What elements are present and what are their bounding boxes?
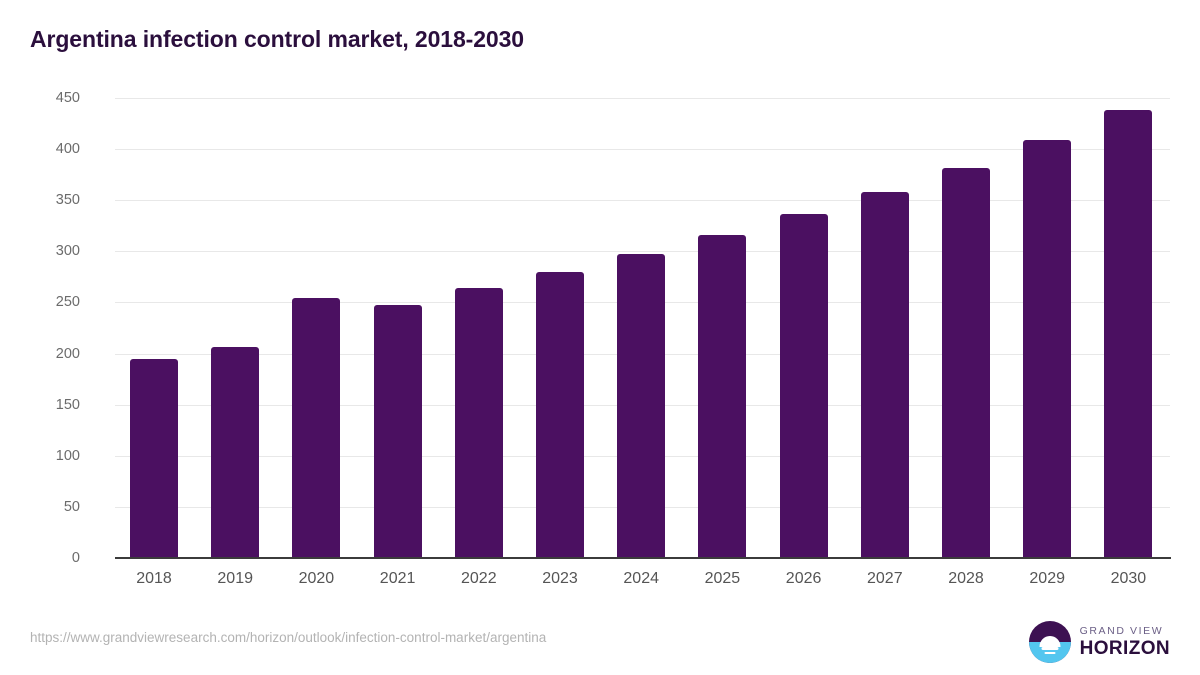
x-axis-tick-label: 2021 [353, 570, 443, 588]
x-axis-tick-label: 2029 [1002, 570, 1092, 588]
y-axis-tick-label: 0 [20, 550, 80, 566]
x-axis-tick-label: 2023 [515, 570, 605, 588]
y-axis-tick-label: 100 [20, 448, 80, 464]
y-axis-tick-label: 250 [20, 294, 80, 310]
logo-horizon-text: HORIZON [1080, 639, 1170, 658]
x-axis-tick-label: 2020 [271, 570, 361, 588]
logo-ray-lower [1044, 652, 1055, 655]
y-axis-tick-label: 400 [20, 141, 80, 157]
x-axis-line [115, 557, 1171, 559]
logo-text: GRAND VIEW HORIZON [1080, 626, 1170, 659]
x-axis-tick-label: 2028 [921, 570, 1011, 588]
bar-2021[interactable] [374, 305, 422, 559]
bar-2026[interactable] [780, 214, 828, 558]
y-axis-tick-label: 150 [20, 397, 80, 413]
gridline [115, 200, 1170, 201]
gridline [115, 251, 1170, 252]
x-axis-tick-label: 2026 [759, 570, 849, 588]
x-axis-tick-label: 2025 [677, 570, 767, 588]
logo-sun-shape [1039, 636, 1060, 647]
source-url[interactable]: https://www.grandviewresearch.com/horizo… [30, 630, 546, 645]
x-axis-tick-label: 2030 [1083, 570, 1173, 588]
logo-grand-view-text: GRAND VIEW [1080, 626, 1170, 637]
x-axis-tick-label: 2018 [109, 570, 199, 588]
bar-2022[interactable] [455, 288, 503, 558]
gridline [115, 98, 1170, 99]
bar-2028[interactable] [942, 168, 990, 558]
bar-2024[interactable] [617, 254, 665, 558]
x-axis-tick-label: 2019 [190, 570, 280, 588]
bar-2029[interactable] [1023, 140, 1071, 558]
bar-2027[interactable] [861, 192, 909, 558]
x-axis-tick-label: 2022 [434, 570, 524, 588]
gridline [115, 149, 1170, 150]
bar-2019[interactable] [211, 347, 259, 558]
page-title: Argentina infection control market, 2018… [30, 26, 524, 53]
grand-view-horizon-logo[interactable]: GRAND VIEW HORIZON [1029, 620, 1170, 664]
x-axis-tick-label: 2027 [840, 570, 930, 588]
plot-area: 050100150200250300350400450 [115, 98, 1170, 558]
bar-2030[interactable] [1104, 110, 1152, 558]
y-axis-tick-label: 300 [20, 243, 80, 259]
chart-page: Argentina infection control market, 2018… [0, 0, 1200, 675]
y-axis-tick-label: 450 [20, 90, 80, 106]
y-axis-tick-label: 50 [20, 499, 80, 515]
bar-2018[interactable] [130, 359, 178, 558]
bar-2023[interactable] [536, 272, 584, 558]
y-axis-tick-label: 200 [20, 346, 80, 362]
logo-ray-upper [1041, 647, 1058, 650]
y-axis-tick-label: 350 [20, 192, 80, 208]
bar-2020[interactable] [292, 298, 340, 558]
horizon-sun-icon [1029, 621, 1071, 663]
x-axis-tick-label: 2024 [596, 570, 686, 588]
bar-2025[interactable] [698, 235, 746, 558]
